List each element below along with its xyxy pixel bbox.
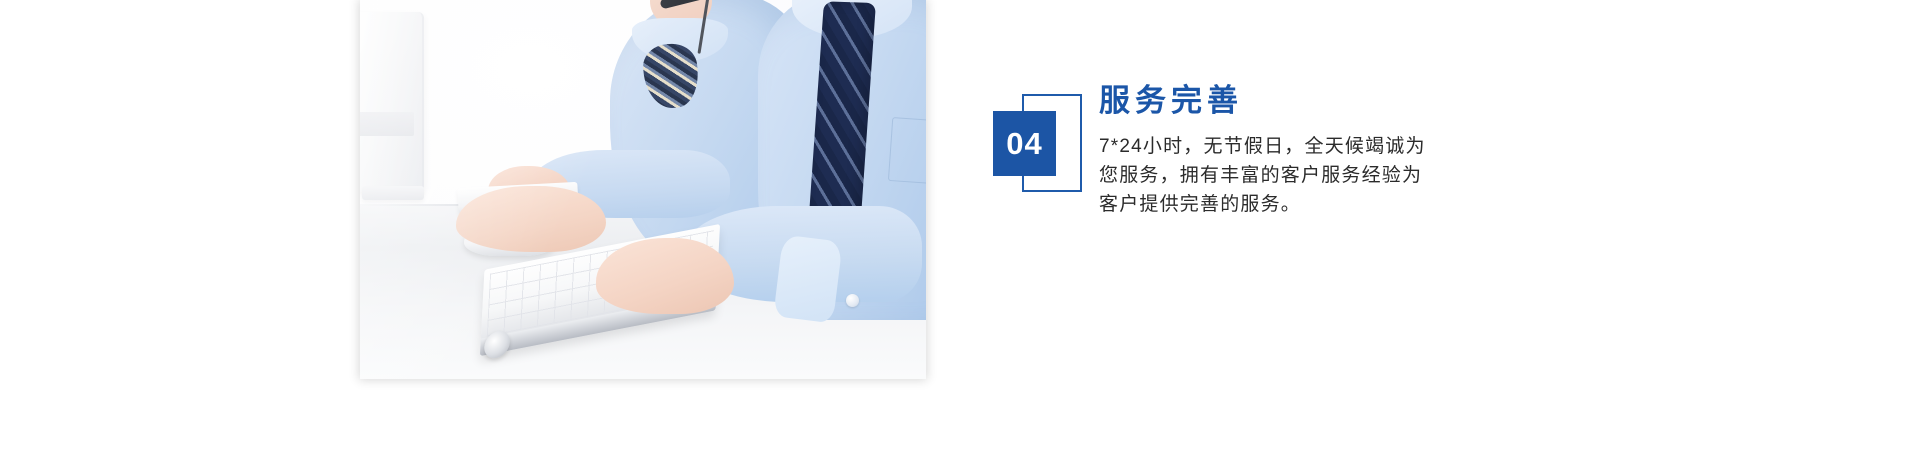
- feature-title: 服务完善: [1099, 82, 1499, 120]
- monitor-icon: [360, 12, 424, 192]
- service-photo-frame: [360, 0, 926, 379]
- agent-front-pocket: [888, 117, 926, 187]
- description-line-2: 您服务，拥有丰富的客户服务经验为: [1099, 162, 1497, 191]
- description-line-1: 7*24小时，无节假日，全天候竭诚为: [1099, 133, 1497, 162]
- service-feature-banner: 04 服务完善 7*24小时，无节假日，全天候竭诚为 您服务，拥有丰富的客户服务…: [0, 0, 1920, 452]
- call-center-photo: [360, 0, 926, 379]
- feature-description: 7*24小时，无节假日，全天候竭诚为 您服务，拥有丰富的客户服务经验为 客户提供…: [1099, 133, 1497, 220]
- agent-front-cuff: [773, 235, 843, 324]
- badge-filled-square: 04: [993, 111, 1056, 176]
- cuff-button-icon: [846, 294, 859, 307]
- feature-text-block: 服务完善 7*24小时，无节假日，全天候竭诚为 您服务，拥有丰富的客户服务经验为…: [1099, 82, 1499, 219]
- description-line-3: 客户提供完善的服务。: [1099, 191, 1497, 220]
- agent-front-hand-right: [596, 238, 734, 314]
- agent-front-hand-left: [456, 186, 606, 252]
- monitor-stand: [362, 186, 424, 200]
- step-number-badge: 04: [993, 94, 1085, 194]
- monitor-screen: [360, 112, 414, 136]
- badge-number-text: 04: [1006, 128, 1042, 159]
